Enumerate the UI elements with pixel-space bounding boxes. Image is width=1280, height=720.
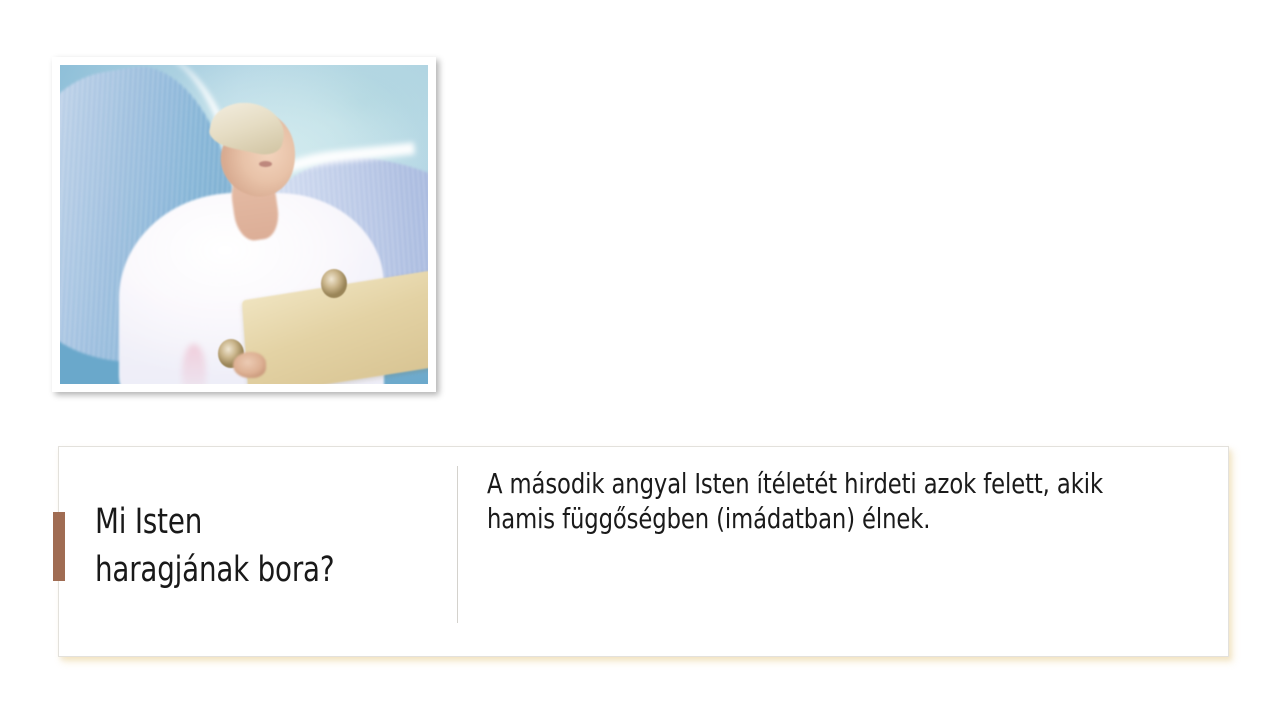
accent-bar [53, 512, 65, 581]
vertical-divider [457, 466, 458, 623]
scroll-knob-right [321, 269, 347, 298]
page-title: Mi Isten haragjának bora? [95, 498, 394, 595]
angel-picture-frame[interactable] [52, 57, 436, 392]
robe-highlight-pink [182, 344, 206, 384]
angel-mouth [259, 161, 272, 167]
body-paragraph: A második angyal Isten ítéletét hirdeti … [487, 467, 1144, 536]
slide-canvas: Mi Isten haragjának bora? A második angy… [0, 0, 1280, 720]
angel-hand [233, 352, 266, 378]
angel-picture [60, 65, 428, 384]
